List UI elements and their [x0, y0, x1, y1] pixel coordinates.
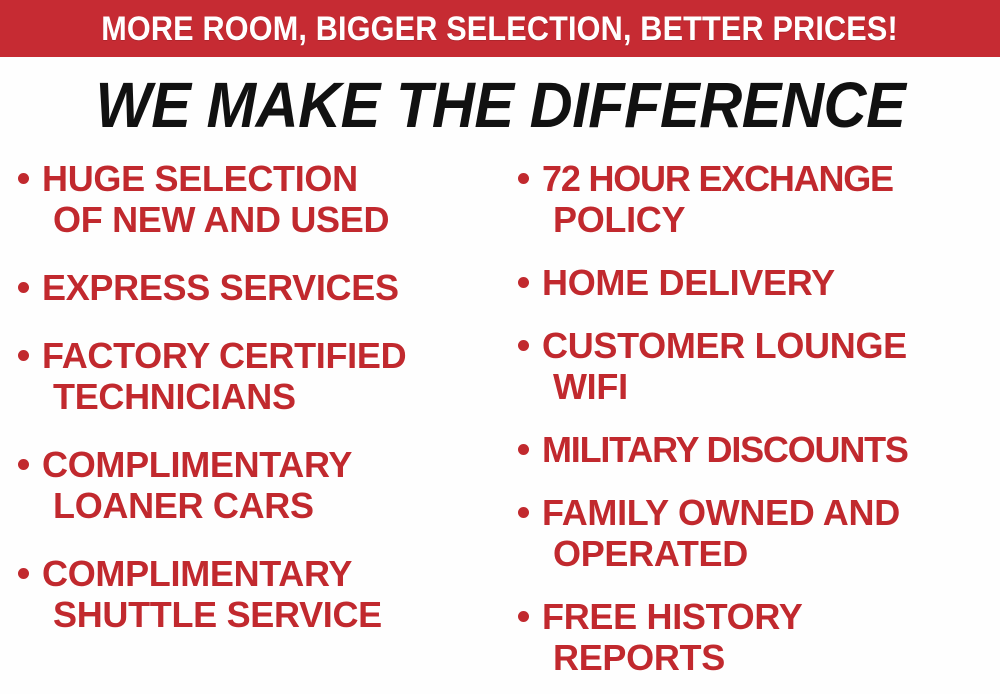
benefits-column-left: HUGE SELECTIONOF NEW AND USEDEXPRESS SER…: [18, 158, 510, 694]
benefit-label: FAMILY OWNED ANDOPERATED: [542, 492, 900, 574]
benefit-label-line2: SHUTTLE SERVICE: [42, 594, 382, 635]
benefit-label-line2: REPORTS: [542, 637, 802, 678]
benefit-item: FACTORY CERTIFIEDTECHNICIANS: [18, 335, 510, 417]
top-banner: MORE ROOM, BIGGER SELECTION, BETTER PRIC…: [0, 0, 1000, 57]
benefit-label: EXPRESS SERVICES: [42, 267, 399, 308]
banner-headline: MORE ROOM, BIGGER SELECTION, BETTER PRIC…: [102, 12, 899, 46]
benefit-item: 72 HOUR EXCHANGEPOLICY: [518, 158, 1000, 240]
benefit-label-line2: TECHNICIANS: [42, 376, 406, 417]
bullet-dot-icon: [518, 277, 529, 288]
benefit-label-line2: OF NEW AND USED: [42, 199, 389, 240]
benefit-label-line2: WIFI: [542, 366, 907, 407]
benefit-label-line1: HUGE SELECTION: [42, 158, 358, 199]
bullet-dot-icon: [518, 507, 529, 518]
benefit-label: COMPLIMENTARYSHUTTLE SERVICE: [42, 553, 382, 635]
benefit-item: COMPLIMENTARYSHUTTLE SERVICE: [18, 553, 510, 635]
benefit-item: HUGE SELECTIONOF NEW AND USED: [18, 158, 510, 240]
benefit-label-line1: FAMILY OWNED AND: [542, 492, 900, 533]
benefit-label-line1: HOME DELIVERY: [542, 262, 835, 303]
benefit-label-line1: FREE HISTORY: [542, 596, 802, 637]
benefit-label-line1: COMPLIMENTARY: [42, 553, 352, 594]
benefit-item: CUSTOMER LOUNGEWIFI: [518, 325, 1000, 407]
bullet-dot-icon: [518, 340, 529, 351]
benefit-label: HUGE SELECTIONOF NEW AND USED: [42, 158, 389, 240]
benefit-label-line1: FACTORY CERTIFIED: [42, 335, 406, 376]
benefit-label-line2: LOANER CARS: [42, 485, 352, 526]
benefit-label: MILITARY DISCOUNTS: [542, 429, 908, 470]
benefit-label-line1: MILITARY DISCOUNTS: [542, 429, 908, 470]
headline-area: WE MAKE THE DIFFERENCE: [0, 60, 1000, 150]
benefit-label: FREE HISTORYREPORTS: [542, 596, 802, 678]
bullet-dot-icon: [18, 282, 29, 293]
benefit-item: MILITARY DISCOUNTS: [518, 429, 1000, 470]
benefit-label-line1: EXPRESS SERVICES: [42, 267, 399, 308]
benefits-columns: HUGE SELECTIONOF NEW AND USEDEXPRESS SER…: [0, 158, 1000, 694]
benefit-item: COMPLIMENTARYLOANER CARS: [18, 444, 510, 526]
bullet-dot-icon: [18, 459, 29, 470]
benefit-label: FACTORY CERTIFIEDTECHNICIANS: [42, 335, 406, 417]
benefit-label-line2: POLICY: [542, 199, 893, 240]
benefit-label: 72 HOUR EXCHANGEPOLICY: [542, 158, 893, 240]
benefit-item: HOME DELIVERY: [518, 262, 1000, 303]
benefit-label-line1: COMPLIMENTARY: [42, 444, 352, 485]
benefit-label-line2: OPERATED: [542, 533, 900, 574]
bullet-dot-icon: [18, 173, 29, 184]
benefit-label-line1: 72 HOUR EXCHANGE: [542, 158, 893, 199]
bullet-dot-icon: [18, 350, 29, 361]
bullet-dot-icon: [518, 173, 529, 184]
benefit-label-line1: CUSTOMER LOUNGE: [542, 325, 907, 366]
benefit-item: EXPRESS SERVICES: [18, 267, 510, 308]
promo-poster: MORE ROOM, BIGGER SELECTION, BETTER PRIC…: [0, 0, 1000, 694]
benefit-item: FREE HISTORYREPORTS: [518, 596, 1000, 678]
benefit-item: FAMILY OWNED ANDOPERATED: [518, 492, 1000, 574]
page-title: WE MAKE THE DIFFERENCE: [95, 73, 905, 137]
bullet-dot-icon: [18, 568, 29, 579]
benefit-label: CUSTOMER LOUNGEWIFI: [542, 325, 907, 407]
bullet-dot-icon: [518, 611, 529, 622]
benefits-column-right: 72 HOUR EXCHANGEPOLICYHOME DELIVERYCUSTO…: [518, 158, 1000, 694]
benefit-label: COMPLIMENTARYLOANER CARS: [42, 444, 352, 526]
benefit-label: HOME DELIVERY: [542, 262, 835, 303]
bullet-dot-icon: [518, 444, 529, 455]
